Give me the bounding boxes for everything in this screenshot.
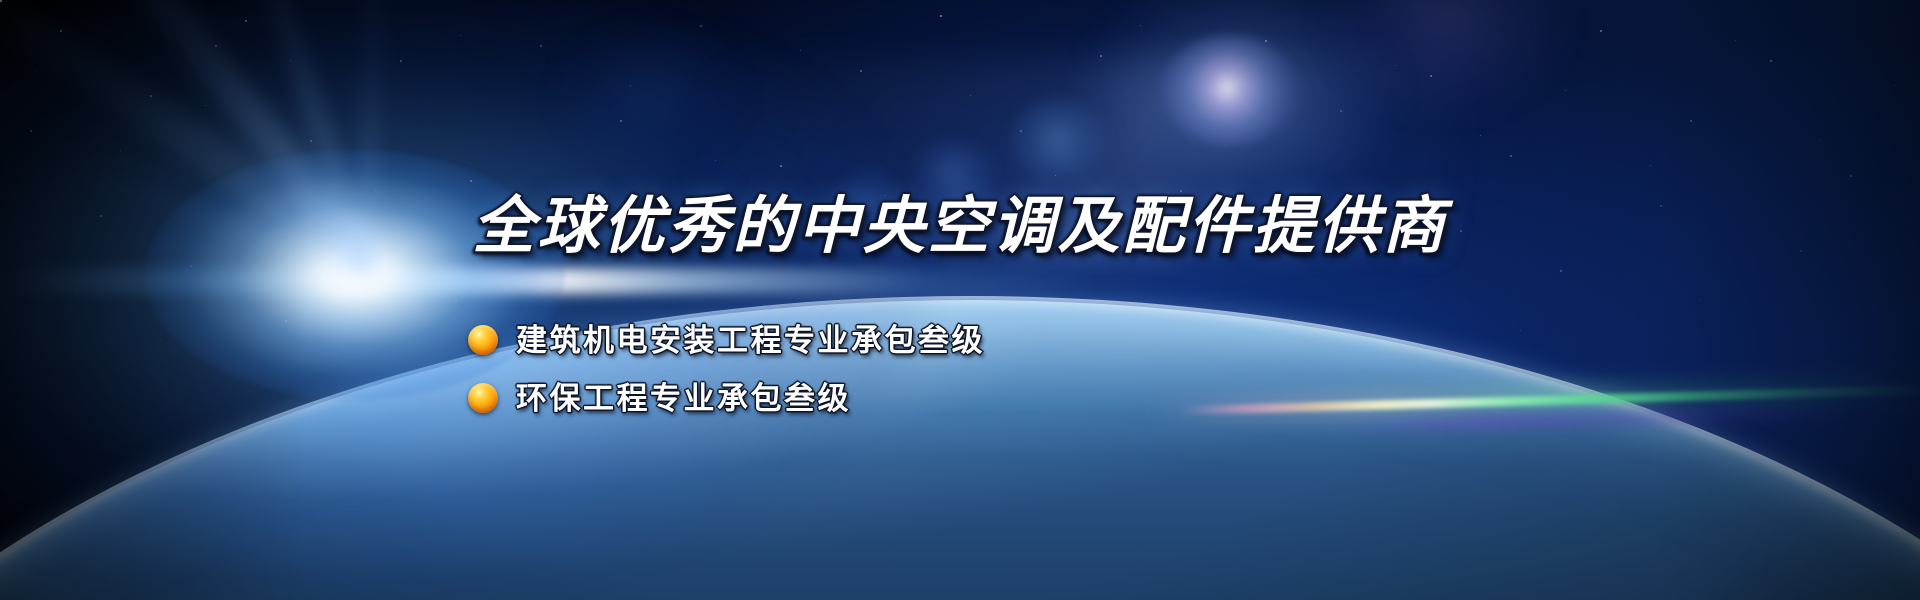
banner-content: 全球优秀的中央空调及配件提供商 建筑机电安装工程专业承包叁级 环保工程专业承包叁… [0, 0, 1920, 600]
certification-list: 建筑机电安装工程专业承包叁级 环保工程专业承包叁级 [468, 312, 1468, 428]
list-item: 建筑机电安装工程专业承包叁级 [468, 312, 1468, 368]
list-item: 环保工程专业承包叁级 [468, 370, 1468, 426]
list-item-label: 建筑机电安装工程专业承包叁级 [516, 325, 985, 356]
orange-dot-icon [468, 383, 498, 413]
banner-headline: 全球优秀的中央空调及配件提供商 [0, 196, 1920, 258]
orange-dot-icon [468, 325, 498, 355]
hero-banner: 全球优秀的中央空调及配件提供商 建筑机电安装工程专业承包叁级 环保工程专业承包叁… [0, 0, 1920, 600]
list-item-label: 环保工程专业承包叁级 [516, 383, 851, 414]
